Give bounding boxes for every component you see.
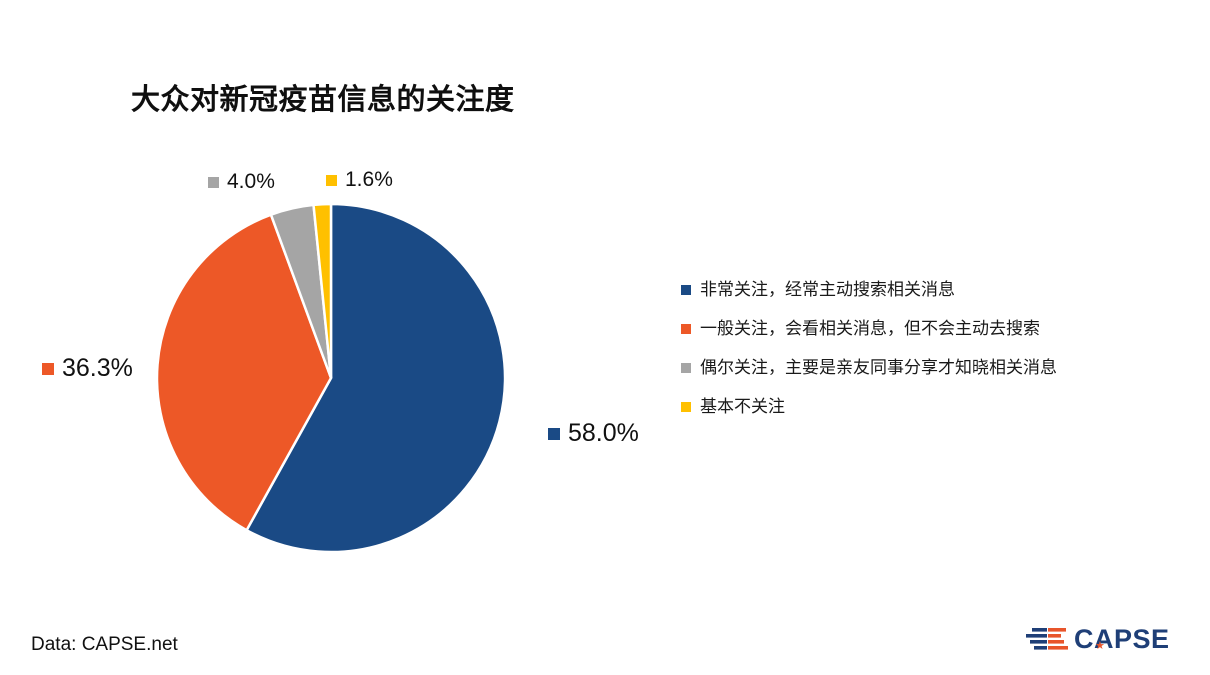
legend-item-1[interactable]: 一般关注，会看相关消息，但不会主动去搜索 <box>681 309 1191 348</box>
data-label-swatch-2 <box>208 177 219 188</box>
data-label-slice-1: 36.3% <box>42 354 133 383</box>
legend-swatch-1 <box>681 324 691 334</box>
legend-label-2: 偶尔关注，主要是亲友同事分享才知晓相关消息 <box>700 359 1057 376</box>
pie-chart-svg <box>150 197 512 559</box>
legend-item-2[interactable]: 偶尔关注，主要是亲友同事分享才知晓相关消息 <box>681 348 1191 387</box>
data-label-swatch-0 <box>548 428 560 440</box>
legend-item-3[interactable]: 基本不关注 <box>681 387 1191 426</box>
capse-wordmark-text: CAPSE <box>1074 624 1170 654</box>
data-label-value-2: 4.0% <box>227 170 275 194</box>
legend-item-0[interactable]: 非常关注，经常主动搜索相关消息 <box>681 270 1191 309</box>
legend-swatch-2 <box>681 363 691 373</box>
chart-title: 大众对新冠疫苗信息的关注度 <box>131 76 515 118</box>
capse-logo-mark-icon <box>1026 624 1068 654</box>
data-label-slice-3: 1.6% <box>326 168 393 192</box>
pie-chart <box>150 197 512 559</box>
legend-label-0: 非常关注，经常主动搜索相关消息 <box>700 281 955 298</box>
data-label-value-1: 36.3% <box>62 354 133 383</box>
data-label-swatch-3 <box>326 175 337 186</box>
slide-canvas: 大众对新冠疫苗信息的关注度 58.0% 36.3% 4.0% 1.6% 非常关注… <box>0 0 1210 675</box>
legend-swatch-0 <box>681 285 691 295</box>
data-label-swatch-1 <box>42 363 54 375</box>
capse-star-icon: ★ <box>1095 641 1105 652</box>
data-label-slice-2: 4.0% <box>208 170 275 194</box>
legend-swatch-3 <box>681 402 691 412</box>
capse-logo: CAPSE ★ <box>1026 619 1189 659</box>
data-label-value-0: 58.0% <box>568 419 639 448</box>
data-label-value-3: 1.6% <box>345 168 393 192</box>
chart-legend: 非常关注，经常主动搜索相关消息 一般关注，会看相关消息，但不会主动去搜索 偶尔关… <box>681 270 1191 426</box>
legend-label-1: 一般关注，会看相关消息，但不会主动去搜索 <box>700 320 1040 337</box>
pie-slices <box>157 204 505 552</box>
capse-wordmark: CAPSE ★ <box>1074 626 1170 653</box>
legend-label-3: 基本不关注 <box>700 398 785 415</box>
data-label-slice-0: 58.0% <box>548 419 639 448</box>
data-source-note: Data: CAPSE.net <box>31 634 178 656</box>
